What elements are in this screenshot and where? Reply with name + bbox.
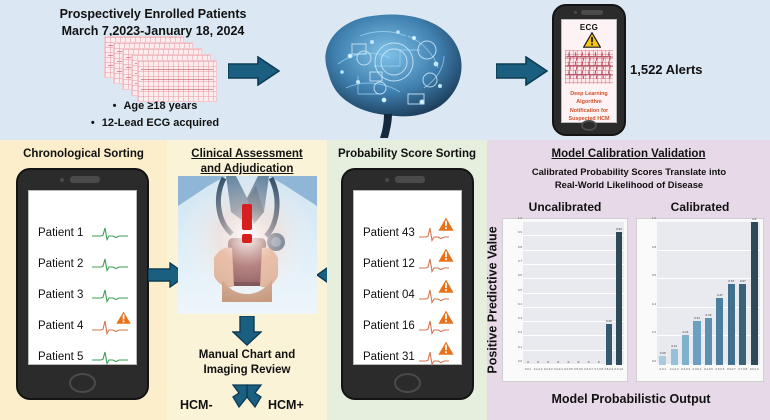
manual-review-line2: Imaging Review	[167, 363, 327, 378]
calibration-subtitle: Calibrated Probability Scores Translate …	[490, 166, 768, 191]
bar: 0.47	[716, 298, 723, 365]
alert-text-line3: Notification for	[564, 107, 614, 115]
criteria-ecg-label: 12-Lead ECG acquired	[102, 117, 219, 129]
clinical-title-line1: Clinical Assessment	[167, 147, 327, 162]
bar-cell: 0.33	[703, 222, 714, 365]
x-tick-label: 0.5-0.6	[573, 367, 583, 379]
calibration-title: Model Calibration Validation	[487, 147, 770, 162]
y-tick-label: 1.0	[652, 216, 656, 220]
x-tick-label: 0.1-0.2	[668, 367, 679, 379]
bullet-marker: •	[91, 117, 95, 129]
uncalibrated-x-ticks: 0-0.10.1-0.20.2-0.30.3-0.40.4-0.50.5-0.6…	[523, 367, 624, 379]
bar-value-label: 0	[547, 360, 549, 364]
infographic-figure: Prospectively Enrolled Patients March 7,…	[0, 0, 770, 420]
list-item[interactable]: Patient 31	[354, 341, 461, 372]
x-tick-label: 0.3-0.4	[691, 367, 702, 379]
down-arrow-icon	[232, 316, 262, 351]
chronological-phone[interactable]: Patient 1 Patient 2 Patient 3	[16, 168, 149, 400]
inclusion-criteria-list: •Age ≥18 years •12-Lead ECG acquired	[40, 98, 270, 131]
list-item[interactable]: Patient 1	[29, 217, 136, 248]
list-item[interactable]: Patient 4	[29, 310, 136, 341]
bar-cell: 1.0	[749, 222, 760, 365]
bar-cell: 0	[553, 222, 563, 365]
y-tick-label: 0.4	[518, 302, 522, 306]
patient-row-list: Patient 43 Patien	[354, 217, 461, 372]
y-tick-label: 1.0	[518, 216, 522, 220]
probability-sorting-panel: Probability Score Sorting Patient 43	[327, 140, 487, 420]
x-tick-label: 0.9-1.0	[614, 367, 624, 379]
bar: 0.21	[682, 335, 689, 365]
manual-review-label: Manual Chart and Imaging Review	[167, 348, 327, 378]
ai-brain-icon	[288, 2, 496, 140]
phone-speaker-icon	[581, 10, 603, 15]
ecg-paper-stack-icon	[104, 36, 214, 102]
bar-value-label: 0	[537, 360, 539, 364]
bar-value-label: 0.57	[740, 279, 746, 283]
bar-cell: 0.47	[714, 222, 725, 365]
y-tick-label: 0.7	[518, 259, 522, 263]
bar: 0.29	[606, 324, 612, 365]
bar-cell: 0	[533, 222, 543, 365]
probability-patient-list[interactable]: Patient 43 Patien	[353, 190, 462, 365]
x-tick-label: 0.6-0.7	[584, 367, 594, 379]
bar-value-label: 0	[568, 360, 570, 364]
ecg-waveform-icon	[92, 256, 128, 277]
list-item[interactable]: Patient 16	[354, 310, 461, 341]
hcm-negative-label: HCM-	[180, 398, 213, 412]
patient-label: Patient 2	[38, 258, 83, 270]
chart-x-axis-label: Model Probabilistic Output	[495, 392, 767, 406]
list-item[interactable]: Patient 12	[354, 248, 461, 279]
bar-cell: 0.21	[680, 222, 691, 365]
x-tick-label: 0.1-0.2	[533, 367, 543, 379]
hcm-positive-label: HCM+	[268, 398, 304, 412]
patient-label: Patient 43	[363, 227, 415, 239]
y-tick-label: 0.3	[518, 316, 522, 320]
patient-label: Patient 4	[38, 320, 83, 332]
phone-home-button[interactable]	[69, 373, 96, 393]
y-axis-label-text: Positive Predictive Value	[486, 226, 500, 373]
x-tick-label: 0.7-0.8	[737, 367, 748, 379]
chronological-patient-list[interactable]: Patient 1 Patient 2 Patient 3	[28, 190, 137, 365]
y-tick-label: 0.6	[518, 273, 522, 277]
chronological-sorting-panel: Chronological Sorting Patient 1 Patient …	[0, 140, 167, 420]
alert-text-line1: Deep Learning	[564, 90, 614, 98]
calibration-subtitle-line1: Calibrated Probability Scores Translate …	[490, 166, 768, 179]
bar: 0.93	[616, 232, 622, 365]
x-tick-label: 0.2-0.3	[680, 367, 691, 379]
bar-value-label: 1.0	[752, 217, 756, 221]
bar-cell: 0.11	[668, 222, 679, 365]
criteria-item-age: •Age ≥18 years	[40, 98, 270, 115]
bar-cell: 0.57	[726, 222, 737, 365]
right-arrow-icon	[228, 56, 280, 86]
right-arrow-icon	[496, 56, 548, 86]
warning-triangle-icon[interactable]	[437, 247, 455, 268]
x-tick-label: 0-0.1	[523, 367, 533, 379]
phone-speaker-icon	[70, 176, 100, 183]
patient-label: Patient 04	[363, 289, 415, 301]
ecg-phone-screen: ECG	[561, 19, 617, 123]
ecg-waveform-strip	[565, 50, 613, 84]
calibrated-x-ticks: 0-0.10.1-0.20.2-0.30.3-0.40.4-0.50.5-0.6…	[657, 367, 760, 379]
bar-value-label: 0.93	[616, 227, 622, 231]
bar-value-label: 0	[527, 360, 529, 364]
phone-speaker-icon	[395, 176, 425, 183]
list-item[interactable]: Patient 2	[29, 248, 136, 279]
y-tick-label: 0.0	[652, 359, 656, 363]
list-item[interactable]: Patient 43	[354, 217, 461, 248]
bar-cell: 0.57	[737, 222, 748, 365]
list-item[interactable]: Patient 3	[29, 279, 136, 310]
uncalibrated-chart-title: Uncalibrated	[502, 200, 628, 214]
bar-value-label: 0.06	[660, 351, 666, 355]
clinical-title-line2: and Adjudication	[167, 162, 327, 177]
calibrated-chart-title: Calibrated	[636, 200, 764, 214]
alerts-count-label: 1,522 Alerts	[630, 62, 750, 77]
calibrated-bars: 0.060.110.210.310.330.470.570.571.0	[657, 222, 760, 365]
probability-title: Probability Score Sorting	[327, 147, 487, 162]
bar-value-label: 0.57	[728, 279, 734, 283]
bar-cell: 0	[543, 222, 553, 365]
bullet-marker: •	[113, 100, 117, 112]
ecg-screen-label: ECG	[562, 23, 616, 32]
bar-value-label: 0.47	[717, 293, 723, 297]
bar: 0.11	[671, 349, 678, 365]
bar-cell: 0.93	[614, 222, 624, 365]
warning-triangle-icon[interactable]	[437, 340, 455, 361]
y-tick-label: 0.2	[652, 330, 656, 334]
bar-value-label: 0.21	[683, 330, 689, 334]
bar: 1.0	[751, 222, 758, 365]
y-tick-label: 0.8	[518, 245, 522, 249]
bar: 0.57	[728, 284, 735, 366]
patient-label: Patient 1	[38, 227, 83, 239]
bar-value-label: 0.33	[706, 313, 712, 317]
warning-triangle-icon[interactable]	[437, 278, 455, 299]
bar-value-label: 0	[557, 360, 559, 364]
patient-row-list: Patient 1 Patient 2 Patient 3	[29, 217, 136, 372]
x-tick-label: 0-0.1	[657, 367, 668, 379]
bar-cell: 0	[573, 222, 583, 365]
bar-cell: 0.31	[691, 222, 702, 365]
bar-value-label: 0	[598, 360, 600, 364]
ecg-waveform-icon	[92, 225, 128, 246]
bar-cell: 0	[584, 222, 594, 365]
x-tick-label: 0.8-0.9	[604, 367, 614, 379]
bar: 0.31	[693, 321, 700, 365]
y-tick-label: 0.1	[518, 345, 522, 349]
y-tick-label: 0.4	[652, 302, 656, 306]
patient-label: Patient 31	[363, 351, 415, 363]
bar-value-label: 0	[588, 360, 590, 364]
phone-camera-icon	[60, 178, 64, 182]
bar-cell: 0	[523, 222, 533, 365]
doctor-holding-phone-image	[178, 176, 317, 314]
top-band: Prospectively Enrolled Patients March 7,…	[0, 0, 770, 140]
uncalibrated-plot-area: 0.0 0.1 0.2 0.3 0.4 0.5 0.6 0.7 0.8 0.9 …	[523, 222, 624, 365]
criteria-item-ecg: •12-Lead ECG acquired	[40, 115, 270, 132]
bar-value-label: 0	[578, 360, 580, 364]
chronological-title: Chronological Sorting	[0, 147, 167, 162]
y-tick-label: 0.0	[518, 359, 522, 363]
bar-cell: 0.06	[657, 222, 668, 365]
uncalibrated-chart: 0.0 0.1 0.2 0.3 0.4 0.5 0.6 0.7 0.8 0.9 …	[502, 218, 628, 382]
ecg-waveform-icon	[92, 287, 128, 308]
calibration-subtitle-line2: Real-World Likelihood of Disease	[490, 179, 768, 192]
y-tick-label: 0.5	[518, 288, 522, 292]
x-tick-label: 0.5-0.6	[714, 367, 725, 379]
enrollment-title: Prospectively Enrolled Patients March 7,…	[28, 6, 278, 40]
list-item[interactable]: Patient 04	[354, 279, 461, 310]
phone-home-button[interactable]	[394, 373, 421, 393]
warning-triangle-icon[interactable]	[115, 310, 132, 330]
patient-label: Patient 5	[38, 351, 83, 363]
x-tick-label: 0.6-0.7	[726, 367, 737, 379]
phone-camera-icon	[385, 178, 389, 182]
clinical-title: Clinical Assessment and Adjudication	[167, 147, 327, 177]
uncalibrated-bars: 000000000.290.93	[523, 222, 624, 365]
bar-value-label: 0.11	[671, 344, 677, 348]
x-tick-label: 0.4-0.5	[703, 367, 714, 379]
phone-home-button[interactable]	[581, 120, 597, 131]
bar: 0.33	[705, 318, 712, 365]
x-tick-label: 0.7-0.8	[594, 367, 604, 379]
y-tick-label: 0.8	[652, 245, 656, 249]
y-tick-label: 0.2	[518, 330, 522, 334]
bar-cell: 0	[594, 222, 604, 365]
ecg-waveform-icon	[92, 349, 128, 370]
y-tick-label: 0.6	[652, 273, 656, 277]
y-tick-label: 0.9	[518, 230, 522, 234]
patient-label: Patient 16	[363, 320, 415, 332]
warning-triangle-icon[interactable]	[437, 216, 455, 237]
x-tick-label: 0.3-0.4	[553, 367, 563, 379]
x-tick-label: 0.4-0.5	[563, 367, 573, 379]
criteria-age-label: Age ≥18 years	[123, 100, 197, 112]
bar: 0.06	[659, 356, 666, 365]
split-arrow-icon	[221, 383, 273, 416]
manual-review-line1: Manual Chart and	[167, 348, 327, 363]
enrollment-title-line1: Prospectively Enrolled Patients	[28, 6, 278, 23]
ecg-alert-phone[interactable]: ECG	[552, 4, 626, 136]
bar-cell: 0.29	[604, 222, 614, 365]
x-tick-label: 0.9-1.0	[749, 367, 760, 379]
calibrated-chart: 0.0 0.2 0.4 0.6 0.8 1.0 0.060.110.210.31…	[636, 218, 764, 382]
bar-value-label: 0.29	[606, 319, 612, 323]
chart-y-axis-label: Positive Predictive Value	[484, 218, 502, 382]
alert-text-line2: Algorithm	[564, 98, 614, 106]
exclamation-mark-icon	[242, 204, 252, 243]
warning-triangle-icon[interactable]	[437, 309, 455, 330]
patient-label: Patient 12	[363, 258, 415, 270]
bar: 0.57	[739, 284, 746, 366]
bar-cell: 0	[563, 222, 573, 365]
probability-phone[interactable]: Patient 43 Patien	[341, 168, 474, 400]
phone-camera-icon	[574, 11, 577, 14]
list-item[interactable]: Patient 5	[29, 341, 136, 372]
patient-label: Patient 3	[38, 289, 83, 301]
calibrated-plot-area: 0.0 0.2 0.4 0.6 0.8 1.0 0.060.110.210.31…	[657, 222, 760, 365]
bar-value-label: 0.31	[694, 316, 700, 320]
x-tick-label: 0.2-0.3	[543, 367, 553, 379]
alert-notification-text: Deep Learning Algorithm Notification for…	[564, 90, 614, 124]
